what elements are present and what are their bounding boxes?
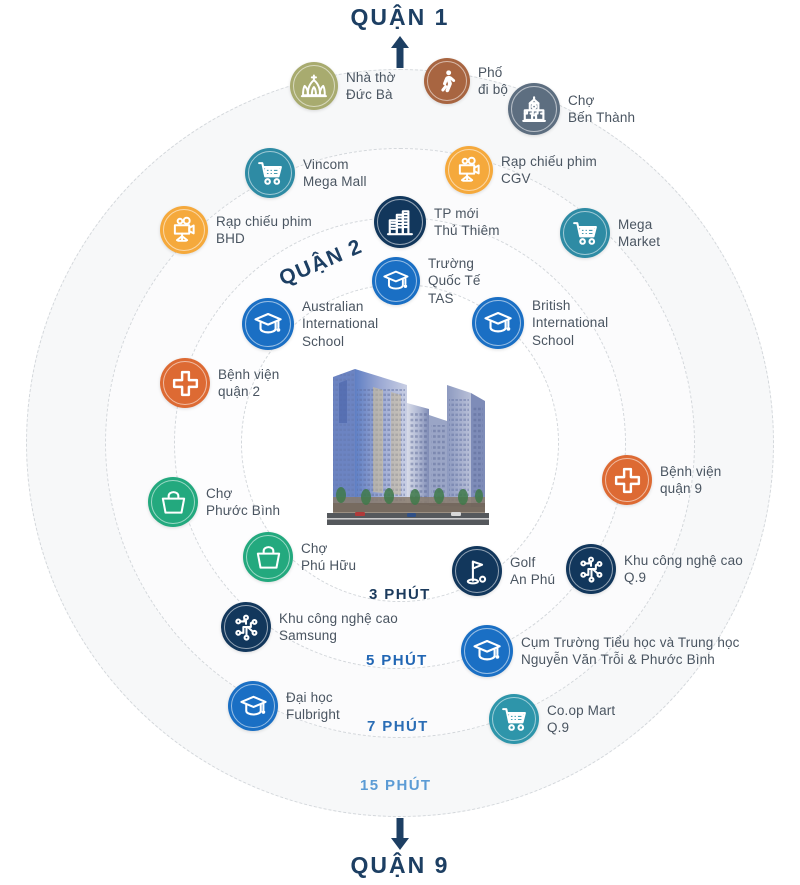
poi-ais[interactable]: Australian International School — [242, 298, 378, 350]
hospital-cross-icon — [602, 455, 652, 505]
poi-label: Golf An Phú — [510, 554, 555, 589]
poi-label: Trường Quốc Tế TAS — [428, 255, 481, 307]
poi-label: Chợ Phước Bình — [206, 485, 280, 520]
poi-coop-mart-q9[interactable]: Co.op Mart Q.9 — [489, 694, 615, 744]
cart-icon — [560, 208, 610, 258]
poi-dai-hoc-fulbright[interactable]: Đại học Fulbright — [228, 681, 340, 731]
poi-label: Khu công nghệ cao Q.9 — [624, 552, 743, 587]
cart-icon — [245, 148, 295, 198]
basket-icon — [243, 532, 293, 582]
apartment-towers-photo — [311, 363, 493, 535]
poi-cum-truong[interactable]: Cụm Trường Tiểu học và Trung học Nguyễn … — [461, 625, 740, 677]
poi-cgv[interactable]: Rạp chiếu phim CGV — [445, 146, 597, 194]
circuit-icon — [221, 602, 271, 652]
poi-vincom-mega[interactable]: Vincom Mega Mall — [245, 148, 367, 198]
poi-bis[interactable]: British International School — [472, 297, 608, 349]
film-camera-icon — [160, 206, 208, 254]
poi-label: British International School — [532, 297, 608, 349]
poi-cho-phuoc-binh[interactable]: Chợ Phước Bình — [148, 477, 280, 527]
poi-label: TP mới Thủ Thiêm — [434, 205, 500, 240]
poi-nha-tho-duc-ba[interactable]: Nhà thờ Đức Bà — [290, 62, 396, 110]
poi-label: Phố đi bộ — [478, 64, 508, 99]
arrow-down-icon — [387, 816, 413, 852]
poi-label: Chợ Phú Hữu — [301, 540, 356, 575]
hospital-cross-icon — [160, 358, 210, 408]
poi-khu-cnc-samsung[interactable]: Khu công nghệ cao Samsung — [221, 602, 398, 652]
poi-label: Khu công nghệ cao Samsung — [279, 610, 398, 645]
ring-label-5: 5 PHÚT — [366, 652, 428, 669]
poi-label: Rạp chiếu phim BHD — [216, 213, 312, 248]
poi-label: Vincom Mega Mall — [303, 156, 367, 191]
film-camera-icon — [445, 146, 493, 194]
district-label-bottom: QUẬN 9 — [0, 852, 800, 879]
graduation-cap-icon — [372, 257, 420, 305]
ben-thanh-icon — [508, 83, 560, 135]
poi-label: Bệnh viện quận 9 — [660, 463, 721, 498]
poi-truong-quoc-te-tas[interactable]: Trường Quốc Tế TAS — [372, 255, 481, 307]
circuit-icon — [566, 544, 616, 594]
poi-bhd[interactable]: Rạp chiếu phim BHD — [160, 206, 312, 254]
poi-label: Bệnh viện quận 2 — [218, 366, 279, 401]
poi-mega-market[interactable]: Mega Market — [560, 208, 660, 258]
graduation-cap-icon — [461, 625, 513, 677]
poi-label: Rạp chiếu phim CGV — [501, 153, 597, 188]
ring-label-3: 3 PHÚT — [369, 586, 431, 603]
poi-label: Nhà thờ Đức Bà — [346, 69, 396, 104]
poi-cho-phu-huu[interactable]: Chợ Phú Hữu — [243, 532, 356, 582]
infographic-canvas: QUẬN 1 3 PHÚT 5 PHÚT 7 PHÚT 15 PHÚT QUẬN… — [0, 0, 800, 885]
poi-label: Australian International School — [302, 298, 378, 350]
pedestrian-icon — [424, 58, 470, 104]
graduation-cap-icon — [228, 681, 278, 731]
poi-golf-an-phu[interactable]: Golf An Phú — [452, 546, 555, 596]
city-buildings-icon — [374, 196, 426, 248]
poi-tp-moi-thu-thiem[interactable]: TP mới Thủ Thiêm — [374, 196, 500, 248]
church-icon — [290, 62, 338, 110]
poi-label: Chợ Bến Thành — [568, 92, 635, 127]
cart-icon — [489, 694, 539, 744]
poi-benh-vien-q2[interactable]: Bệnh viện quận 2 — [160, 358, 279, 408]
district-label-top: QUẬN 1 — [0, 4, 800, 31]
graduation-cap-icon — [242, 298, 294, 350]
poi-label: Co.op Mart Q.9 — [547, 702, 615, 737]
ring-label-15: 15 PHÚT — [360, 777, 432, 794]
poi-khu-cnc-q9[interactable]: Khu công nghệ cao Q.9 — [566, 544, 743, 594]
golf-flag-icon — [452, 546, 502, 596]
poi-label: Đại học Fulbright — [286, 689, 340, 724]
poi-pho-di-bo[interactable]: Phố đi bộ — [424, 58, 508, 104]
poi-benh-vien-q9[interactable]: Bệnh viện quận 9 — [602, 455, 721, 505]
basket-icon — [148, 477, 198, 527]
poi-label: Mega Market — [618, 216, 660, 251]
ring-label-7: 7 PHÚT — [367, 718, 429, 735]
poi-label: Cụm Trường Tiểu học và Trung học Nguyễn … — [521, 634, 740, 669]
poi-cho-ben-thanh[interactable]: Chợ Bến Thành — [508, 83, 635, 135]
